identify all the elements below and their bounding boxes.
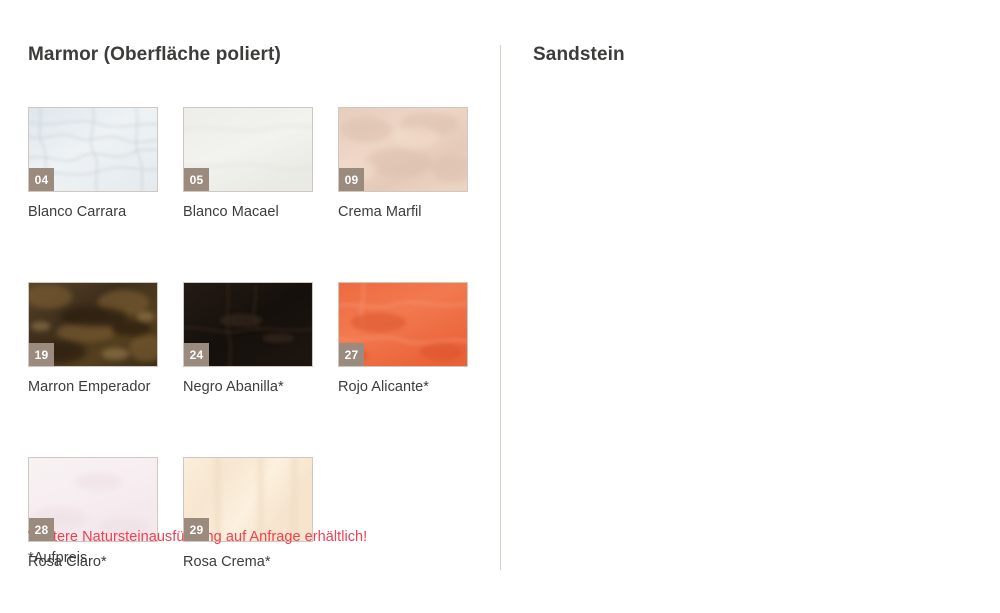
swatch-code-badge: 29 [184, 518, 209, 541]
swatch-blanco-carrara[interactable]: 04 [28, 107, 158, 192]
swatch-crema-marfil[interactable]: 09 [338, 107, 468, 192]
swatch-code-badge: 24 [184, 343, 209, 366]
swatch-marron-emperador[interactable]: 19 [28, 282, 158, 367]
marble-footnote-warning: Weitere Natursteinausführung auf Anfrage… [28, 527, 488, 548]
swatch-code-badge: 28 [29, 518, 54, 541]
swatch-label: Marron Emperador [28, 379, 158, 395]
swatch-negro-abanilla[interactable]: 24 [183, 282, 313, 367]
swatch-cell[interactable]: 09 Crema Marfil [338, 107, 468, 220]
swatch-label: Rojo Alicante* [338, 379, 468, 395]
swatch-code-badge: 19 [29, 343, 54, 366]
swatch-cell[interactable]: 19 Marron Emperador [28, 282, 158, 395]
marble-section-heading: Marmor (Oberfläche poliert) [28, 44, 281, 66]
swatch-blanco-macael[interactable]: 05 [183, 107, 313, 192]
marble-swatch-grid: 04 Blanco Carrara [28, 107, 468, 570]
swatch-code-badge: 04 [29, 168, 54, 191]
sandstone-section-heading: Sandstein [533, 44, 625, 66]
swatch-label: Blanco Macael [183, 204, 313, 220]
swatch-rojo-alicante[interactable]: 27 [338, 282, 468, 367]
swatch-cell[interactable]: 05 Blanco Macael [183, 107, 313, 220]
swatch-cell[interactable]: 04 Blanco Carrara [28, 107, 158, 220]
stone-sample-sheet: Marmor (Oberfläche poliert) [0, 0, 1000, 613]
swatch-code-badge: 27 [339, 343, 364, 366]
swatch-code-badge: 09 [339, 168, 364, 191]
sandstone-section: Sandstein [500, 0, 1000, 613]
swatch-label: Crema Marfil [338, 204, 468, 220]
marble-footnote-surcharge: *Aufpreis [28, 548, 488, 569]
swatch-label: Blanco Carrara [28, 204, 158, 220]
marble-section: Marmor (Oberfläche poliert) [0, 0, 500, 613]
swatch-cell[interactable]: 27 Rojo Alicante* [338, 282, 468, 395]
swatch-label: Negro Abanilla* [183, 379, 313, 395]
swatch-code-badge: 05 [184, 168, 209, 191]
swatch-cell[interactable]: 24 Negro Abanilla* [183, 282, 313, 395]
